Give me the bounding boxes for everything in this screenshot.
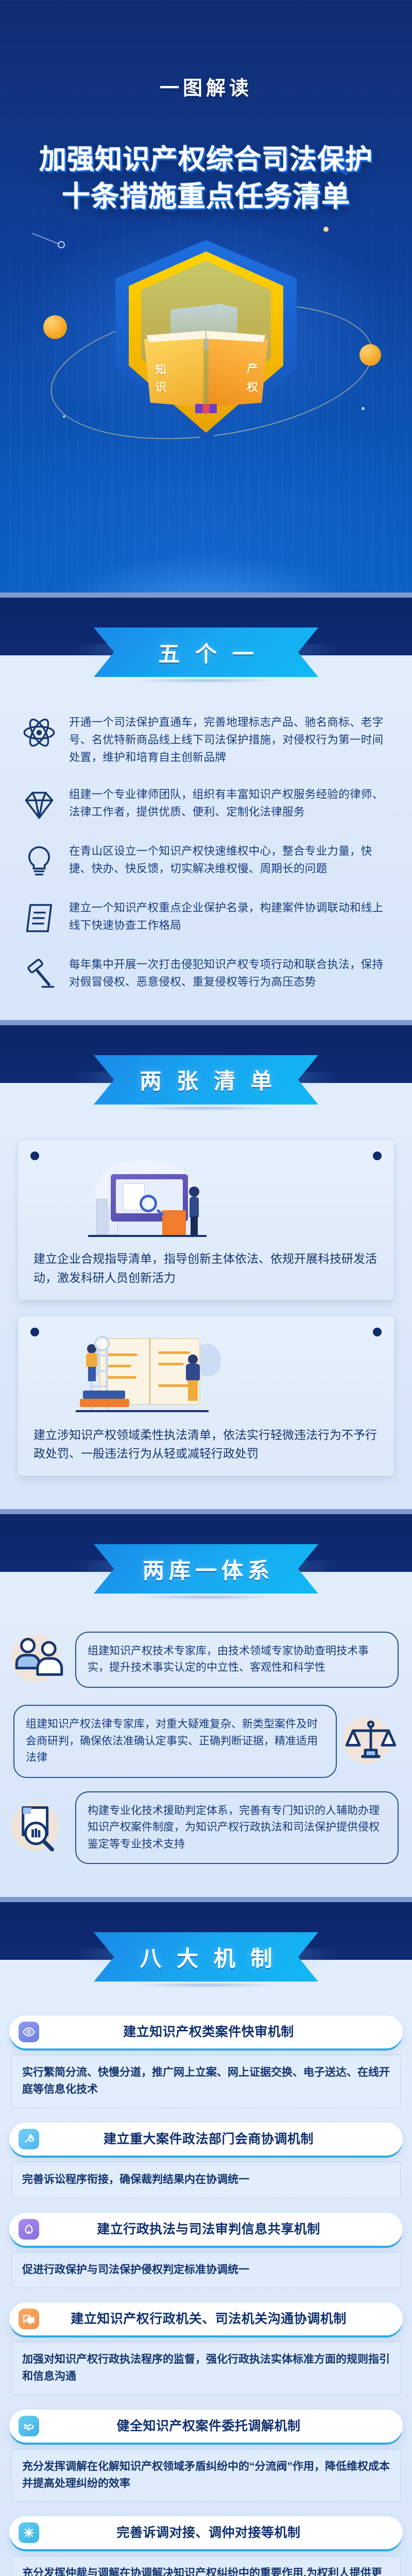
orange-sphere-right — [359, 344, 381, 366]
section-banner-eight-mechanisms: 八 大 机 制 — [0, 1897, 412, 2005]
shield-emblem: 知 识 产 权 — [98, 240, 314, 462]
mechanism-4: 建立知识产权行政机关、司法机关沟通协调机制 加强对知识产权行政执法程序的监督，强… — [9, 2302, 403, 2406]
banner-label-eight: 八 大 机 制 — [135, 1941, 277, 1973]
band-divider — [0, 1897, 412, 1902]
banner-ribbon-eight: 八 大 机 制 — [94, 1932, 318, 1981]
mechanism-2: 建立重大案件政法部门会商协调机制 完善诉讼程序衔接，确保裁判结果内在协调统一 — [9, 2123, 403, 2210]
two-libraries-body: 组建知识产权技术专家库，由技术领域专家协助查明技术事实，提升技术事实认定的中立性… — [0, 1617, 412, 1897]
mechanism-5-body: 充分发挥调解在化解知识产权领域矛盾纠纷中的“分流阀”作用，降低维权成本并提高处理… — [11, 2449, 401, 2502]
five-one-item-4: 建立一个知识产权重点企业保护名录，构建案件协调联动和线上线下快速协查工作格局 — [0, 889, 412, 946]
mechanism-2-header[interactable]: 建立重大案件政法部门会商协调机制 — [9, 2123, 403, 2156]
mechanism-1: 建立知识产权类案件快审机制 实行繁简分流、快慢分道，推广网上立案、网上证据交换、… — [9, 2015, 403, 2120]
mechanism-6-header[interactable]: 完善诉调对接、调仲对接等机制 — [9, 2516, 403, 2549]
mechanism-1-title: 建立知识产权类案件快审机制 — [46, 2024, 389, 2040]
five-one-item-5: 每年集中开展一次打击侵犯知识产权专项行动和联合执法，保持对假冒侵权、恶意侵权、重… — [0, 946, 412, 1003]
lightbulb-icon — [21, 843, 58, 880]
five-one-list: 开通一个司法保护直通车，完善地理标志产品、驰名商标、老字号、名优特新商品线上线下… — [0, 701, 412, 1020]
node-dot-icon — [58, 241, 65, 248]
mechanism-6-body: 充分发挥仲裁与调解在协调解决知识产权纠纷中的重要作用,为权利人提供更多的争议解决… — [11, 2555, 401, 2576]
list-card-2: 建立涉知识产权领域柔性执法清单，依法实行轻微违法行为不予行政处罚、一般违法行为从… — [18, 1316, 394, 1477]
eight-mechanisms-body: 建立知识产权类案件快审机制 实行繁简分流、快慢分道，推广网上立案、网上证据交换、… — [0, 2005, 412, 2576]
magnifier-doc-icon — [13, 1801, 67, 1855]
banner-label-two-lists: 两 张 清 单 — [135, 1064, 277, 1095]
banner-ribbon-five-one: 五 个 一 — [94, 628, 318, 677]
chat-icon — [19, 2309, 39, 2329]
diamond-icon — [21, 786, 58, 823]
banner-label-two-libraries: 两库一体系 — [138, 1553, 274, 1585]
hero-section: 一图解读 加强知识产权综合司法保护 十条措施重点任务清单 知 识 产 — [0, 0, 412, 592]
banner-shadow — [103, 1105, 309, 1112]
dot-accent-3 — [63, 415, 65, 418]
section-banner-two-lists: 两 张 清 单 — [0, 1020, 412, 1128]
mechanism-4-title: 建立知识产权行政机关、司法机关沟通协调机制 — [46, 2311, 389, 2327]
punch-hole-right — [373, 1151, 382, 1160]
five-one-text-5: 每年集中开展一次打击侵犯知识产权专项行动和联合执法，保持对假冒侵权、恶意侵权、重… — [69, 956, 388, 991]
eye-icon — [19, 2022, 39, 2042]
hero-title-line-2: 十条措施重点任务清单 — [0, 178, 412, 215]
five-one-item-1: 开通一个司法保护直通车，完善地理标志产品、驰名商标、老字号、名优特新商品线上线下… — [0, 704, 412, 776]
mechanism-1-header[interactable]: 建立知识产权类案件快审机制 — [9, 2015, 403, 2048]
two-lists-body: 建立企业合规指导清单，指导创新主体依法、依规开展科技研发活动，激发科研人员创新活… — [0, 1128, 412, 1509]
banner-ribbon-two-libraries: 两库一体系 — [94, 1544, 318, 1594]
network-icon — [19, 2522, 39, 2543]
five-one-text-1: 开通一个司法保护直通车，完善地理标志产品、驰名商标、老字号、名优特新商品线上线下… — [69, 714, 388, 767]
five-one-item-3: 在青山区设立一个知识产权快速维权中心，整合专业力量，快捷、快办、快反馈，切实解决… — [0, 833, 412, 889]
band-divider — [0, 592, 412, 598]
book-page-left — [142, 335, 203, 407]
mechanism-5-title: 健全知识产权案件委托调解机制 — [46, 2418, 389, 2434]
banner-shadow — [103, 677, 309, 684]
band-divider — [0, 1509, 412, 1514]
punch-hole-right — [373, 1328, 382, 1336]
handshake-icon — [19, 2416, 39, 2436]
list-card-1: 建立企业合规指导清单，指导创新主体依法、依规开展科技研发活动，激发科研人员创新活… — [18, 1140, 394, 1300]
punch-hole-left — [30, 1328, 39, 1336]
mechanism-1-body: 实行繁简分流、快慢分道，推广网上立案、网上证据交换、电子送达、在线开庭等信息化技… — [11, 2055, 401, 2108]
book-char-quan: 权 — [247, 378, 258, 395]
section-banner-two-libraries: 两库一体系 — [0, 1509, 412, 1617]
mechanism-3-body: 促进行政保护与司法保护侵权判定标准协调统一 — [11, 2252, 401, 2289]
dot-accent-2 — [362, 407, 365, 410]
share-icon — [19, 2219, 39, 2240]
book-page-right — [209, 335, 270, 407]
mechanism-2-body: 完善诉讼程序衔接，确保裁判结果内在协调统一 — [11, 2162, 401, 2198]
hero-title: 加强知识产权综合司法保护 十条措施重点任务清单 — [0, 142, 412, 215]
five-one-text-4: 建立一个知识产权重点企业保护名录，构建案件协调联动和线上线下快速协查工作格局 — [69, 900, 388, 935]
gavel-icon — [21, 956, 58, 993]
five-one-text-3: 在青山区设立一个知识产权快速维权中心，整合专业力量，快捷、快办、快反馈，切实解决… — [69, 843, 388, 878]
banner-shadow — [103, 1981, 309, 1989]
mechanism-4-body: 加强对知识产权行政执法程序的监督，强化行政执法实体标准方面的规则指引和信息沟通 — [11, 2342, 401, 2395]
document-list-icon — [21, 900, 58, 937]
banner-shadow — [103, 1594, 309, 1601]
hero-title-line-1: 加强知识产权综合司法保护 — [0, 142, 412, 178]
banner-ribbon-two-lists: 两 张 清 单 — [94, 1055, 318, 1105]
book-char-shi: 识 — [155, 378, 166, 395]
mechanism-2-title: 建立重大案件政法部门会商协调机制 — [46, 2131, 389, 2147]
book-char-chan: 产 — [247, 360, 258, 376]
section-banner-five-one: 五 个 一 — [0, 592, 412, 701]
orange-sphere-left — [43, 315, 67, 339]
dot-accent-1 — [323, 227, 329, 232]
library-text-2: 组建知识产权法律专家库，对重大疑难复杂、新类型案件及时会商研判，确保依法准确认定… — [13, 1705, 337, 1778]
mechanism-3-title: 建立行政执法与司法审判信息共享机制 — [46, 2221, 389, 2238]
punch-hole-left — [30, 1151, 39, 1160]
infographic-page: 一图解读 加强知识产权综合司法保护 十条措施重点任务清单 知 识 产 — [0, 0, 412, 2576]
expert-person-icon — [13, 1633, 67, 1686]
library-item-3: 构建专业化技术援助判定体系，完善有专门知识的人辅助办理知识产权案件制度，为知识产… — [13, 1791, 399, 1865]
book-char-zhi: 知 — [155, 361, 166, 377]
open-book-icon: 知 识 产 权 — [142, 331, 270, 408]
mechanism-3: 建立行政执法与司法审判信息共享机制 促进行政保护与司法保护侵权判定标准协调统一 — [9, 2213, 403, 2300]
five-one-text-2: 组建一个专业律师团队，组织有丰富知识产权服务经验的律师、法律工作者，提供优质、便… — [69, 786, 388, 821]
library-text-3: 构建专业化技术援助判定体系，完善有专门知识的人辅助办理知识产权案件制度，为知识产… — [75, 1791, 399, 1865]
bookmark-ribbon — [195, 404, 217, 413]
library-text-1: 组建知识产权技术专家库，由技术领域专家协助查明技术事实，提升技术事实认定的中立性… — [75, 1632, 399, 1688]
rocket-icon — [19, 2129, 39, 2149]
mechanism-5-header[interactable]: 健全知识产权案件委托调解机制 — [9, 2410, 403, 2443]
hero-eyebrow: 一图解读 — [0, 72, 412, 100]
list-card-1-text: 建立企业合规指导清单，指导创新主体依法、依规开展科技研发活动，激发科研人员创新活… — [31, 1249, 381, 1287]
list-card-2-text: 建立涉知识产权领域柔性执法清单，依法实行轻微违法行为不予行政处罚、一般违法行为从… — [31, 1426, 381, 1464]
book-ladder-illustration — [39, 1333, 373, 1426]
mechanism-3-header[interactable]: 建立行政执法与司法审判信息共享机制 — [9, 2213, 403, 2246]
mechanism-5: 健全知识产权案件委托调解机制 充分发挥调解在化解知识产权领域矛盾纠纷中的“分流阀… — [9, 2410, 403, 2514]
office-desk-illustration — [39, 1157, 373, 1249]
mechanism-4-header[interactable]: 建立知识产权行政机关、司法机关沟通协调机制 — [9, 2302, 403, 2335]
scales-icon — [345, 1715, 399, 1768]
mechanism-6: 完善诉调对接、调仲对接等机制 充分发挥仲裁与调解在协调解决知识产权纠纷中的重要作… — [9, 2516, 403, 2576]
hero-bottom-glow — [0, 474, 412, 592]
five-one-item-2: 组建一个专业律师团队，组织有丰富知识产权服务经验的律师、法律工作者，提供优质、便… — [0, 776, 412, 833]
library-item-1: 组建知识产权技术专家库，由技术领域专家协助查明技术事实，提升技术事实认定的中立性… — [13, 1628, 399, 1691]
library-item-2: 组建知识产权法律专家库，对重大疑难复杂、新类型案件及时会商研判，确保依法准确认定… — [13, 1705, 399, 1778]
mechanism-6-title: 完善诉调对接、调仲对接等机制 — [46, 2524, 389, 2541]
banner-label-five-one: 五 个 一 — [153, 637, 258, 668]
atom-icon — [21, 714, 58, 751]
band-divider — [0, 1020, 412, 1025]
